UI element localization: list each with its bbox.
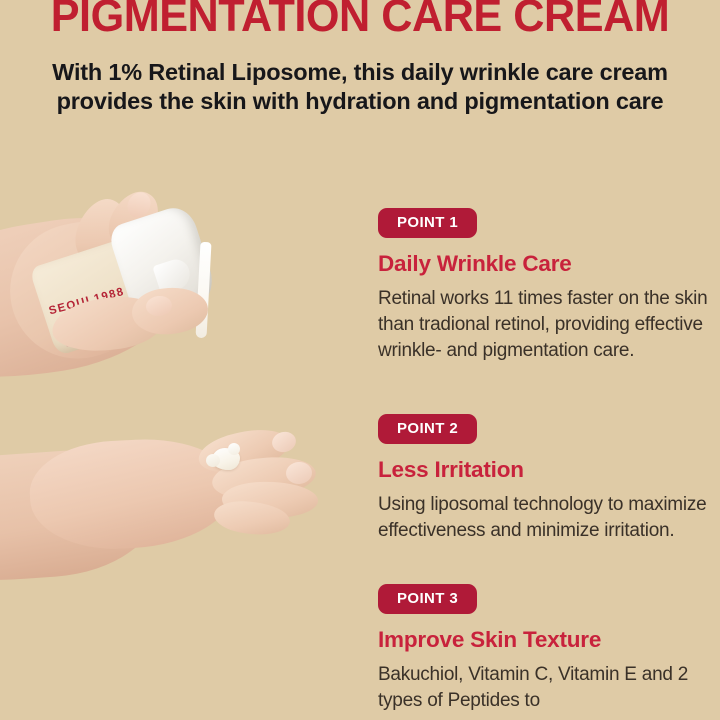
point-3: POINT 3 Improve Skin Texture Bakuchiol, … bbox=[378, 584, 720, 714]
point-3-body: Bakuchiol, Vitamin C, Vitamin E and 2 ty… bbox=[378, 662, 708, 714]
cream-dollop bbox=[212, 448, 240, 470]
point-2-title: Less Irritation bbox=[378, 457, 720, 483]
points-column: POINT 1 Daily Wrinkle Care Retinal works… bbox=[374, 0, 720, 720]
point-1-title: Daily Wrinkle Care bbox=[378, 251, 720, 277]
point-1-body: Retinal works 11 times faster on the ski… bbox=[378, 286, 708, 364]
point-3-title: Improve Skin Texture bbox=[378, 627, 720, 653]
point-2: POINT 2 Less Irritation Using liposomal … bbox=[378, 414, 720, 544]
product-photo: SEOUL1988 PIGMENT bbox=[0, 170, 372, 720]
point-1-badge: POINT 1 bbox=[378, 208, 477, 238]
point-3-badge: POINT 3 bbox=[378, 584, 477, 614]
point-1: POINT 1 Daily Wrinkle Care Retinal works… bbox=[378, 208, 720, 364]
product-infographic: PIGMENTATION CARE CREAM With 1% Retinal … bbox=[0, 0, 720, 720]
point-2-body: Using liposomal technology to maximize e… bbox=[378, 492, 708, 544]
point-2-badge: POINT 2 bbox=[378, 414, 477, 444]
